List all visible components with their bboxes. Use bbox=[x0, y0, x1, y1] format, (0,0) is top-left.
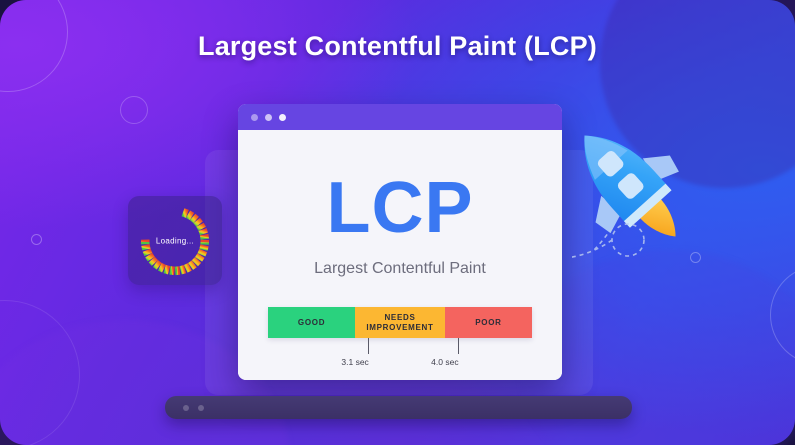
threshold-marker-1: 3.1 sec bbox=[355, 338, 382, 367]
score-bar: GOOD NEEDS IMPROVEMENT POOR bbox=[268, 307, 532, 338]
laptop-base bbox=[165, 396, 632, 419]
laptop-base-dot-2-icon bbox=[198, 405, 204, 411]
threshold-label-2: 4.0 sec bbox=[431, 357, 458, 367]
window-dot-3-icon[interactable] bbox=[279, 114, 286, 121]
lcp-infographic: Largest Contentful Paint (LCP) LCP Large… bbox=[0, 0, 795, 445]
browser-window: LCP Largest Contentful Paint GOOD NEEDS … bbox=[238, 104, 562, 380]
score-segment-poor-label: POOR bbox=[475, 318, 501, 328]
score-thresholds: 3.1 sec 4.0 sec bbox=[268, 338, 532, 368]
loading-gauge-card: Loading... bbox=[128, 196, 222, 285]
lcp-subhead: Largest Contentful Paint bbox=[314, 260, 486, 278]
score-bar-section: GOOD NEEDS IMPROVEMENT POOR bbox=[268, 307, 532, 368]
score-segment-ni-label-line1: NEEDS bbox=[384, 313, 415, 322]
threshold-label-1: 3.1 sec bbox=[341, 357, 368, 367]
score-segment-ni-label-line2: IMPROVEMENT bbox=[366, 323, 433, 332]
lcp-headline: LCP bbox=[327, 172, 474, 244]
score-segment-good[interactable]: GOOD bbox=[268, 307, 355, 338]
browser-title-bar bbox=[238, 104, 562, 130]
threshold-stem-1 bbox=[368, 338, 369, 354]
laptop-base-dot-1-icon bbox=[183, 405, 189, 411]
score-segment-poor[interactable]: POOR bbox=[445, 307, 532, 338]
browser-content: LCP Largest Contentful Paint GOOD NEEDS … bbox=[238, 130, 562, 380]
rocket-icon bbox=[572, 104, 688, 269]
threshold-marker-2: 4.0 sec bbox=[445, 338, 472, 367]
threshold-stem-2 bbox=[458, 338, 459, 354]
score-segment-needs-improvement[interactable]: NEEDS IMPROVEMENT bbox=[355, 307, 445, 338]
loading-gauge-label: Loading... bbox=[128, 236, 222, 245]
window-dot-1-icon[interactable] bbox=[251, 114, 258, 121]
window-dot-2-icon[interactable] bbox=[265, 114, 272, 121]
page-title: Largest Contentful Paint (LCP) bbox=[0, 31, 795, 62]
score-segment-good-label: GOOD bbox=[298, 318, 325, 328]
